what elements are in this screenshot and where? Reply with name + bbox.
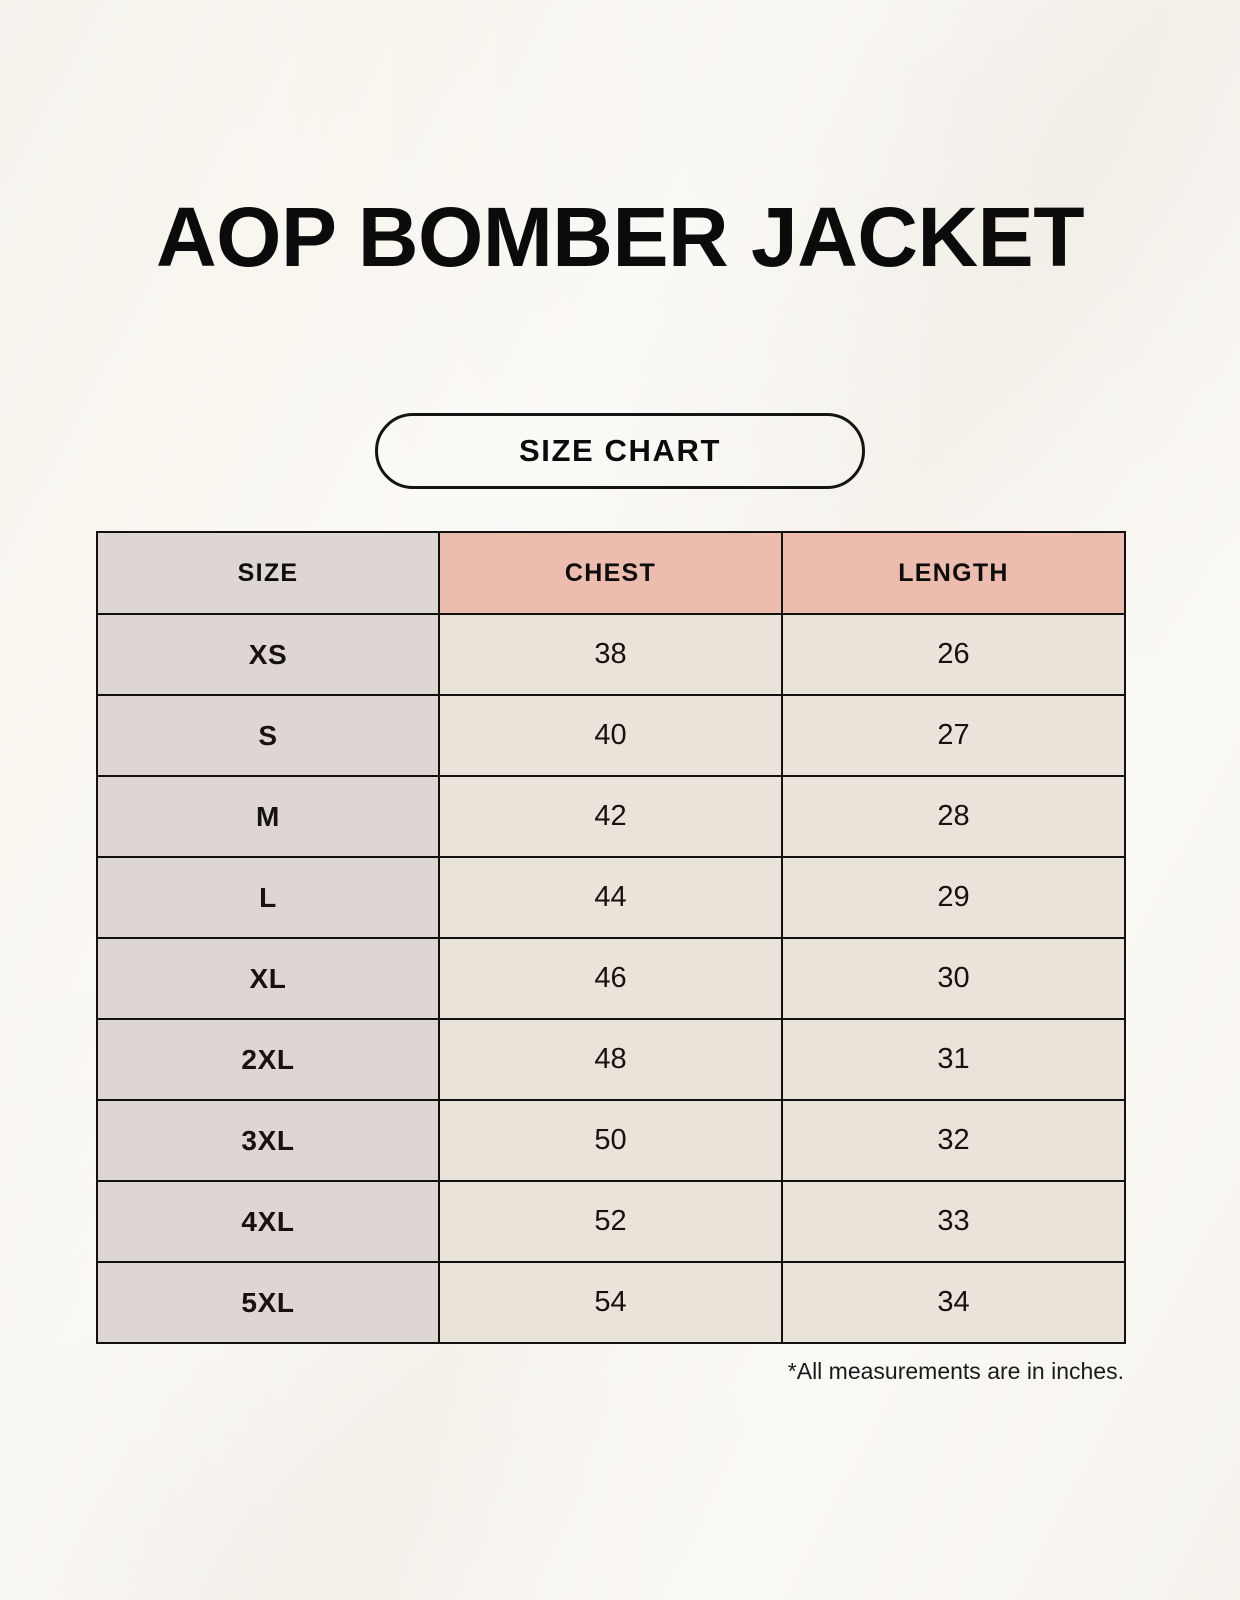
- cell-size: 2XL: [97, 1019, 439, 1100]
- cell-chest: 46: [439, 938, 782, 1019]
- cell-size: L: [97, 857, 439, 938]
- cell-chest: 52: [439, 1181, 782, 1262]
- cell-chest: 38: [439, 614, 782, 695]
- cell-length: 26: [782, 614, 1125, 695]
- cell-length: 28: [782, 776, 1125, 857]
- table-row: 3XL 50 32: [97, 1100, 1125, 1181]
- measurement-footnote: *All measurements are in inches.: [96, 1342, 1124, 1385]
- cell-chest: 40: [439, 695, 782, 776]
- size-table: SIZE CHEST LENGTH XS 38 26 S 40 27 M: [96, 531, 1126, 1344]
- table-row: L 44 29: [97, 857, 1125, 938]
- cell-length: 29: [782, 857, 1125, 938]
- cell-length: 31: [782, 1019, 1125, 1100]
- badge-container: SIZE CHART: [0, 413, 1240, 489]
- table-row: XS 38 26: [97, 614, 1125, 695]
- size-chart-page: AOP BOMBER JACKET SIZE CHART SIZE CHEST …: [0, 0, 1240, 1600]
- table-body: XS 38 26 S 40 27 M 42 28 L 44 29: [97, 614, 1125, 1343]
- cell-size: 5XL: [97, 1262, 439, 1343]
- cell-chest: 54: [439, 1262, 782, 1343]
- cell-length: 34: [782, 1262, 1125, 1343]
- cell-size: 3XL: [97, 1100, 439, 1181]
- title-block: AOP BOMBER JACKET: [0, 196, 1240, 278]
- cell-length: 27: [782, 695, 1125, 776]
- cell-size: XS: [97, 614, 439, 695]
- cell-length: 30: [782, 938, 1125, 1019]
- cell-chest: 48: [439, 1019, 782, 1100]
- size-table-container: SIZE CHEST LENGTH XS 38 26 S 40 27 M: [96, 531, 1124, 1344]
- size-chart-badge: SIZE CHART: [375, 413, 865, 489]
- cell-chest: 44: [439, 857, 782, 938]
- page-title: AOP BOMBER JACKET: [0, 196, 1240, 278]
- table-row: 2XL 48 31: [97, 1019, 1125, 1100]
- cell-size: XL: [97, 938, 439, 1019]
- column-header-length: LENGTH: [782, 532, 1125, 614]
- table-row: 5XL 54 34: [97, 1262, 1125, 1343]
- cell-size: 4XL: [97, 1181, 439, 1262]
- table-header: SIZE CHEST LENGTH: [97, 532, 1125, 614]
- table-row: S 40 27: [97, 695, 1125, 776]
- cell-chest: 50: [439, 1100, 782, 1181]
- table-row: XL 46 30: [97, 938, 1125, 1019]
- cell-length: 32: [782, 1100, 1125, 1181]
- cell-length: 33: [782, 1181, 1125, 1262]
- cell-chest: 42: [439, 776, 782, 857]
- table-row: 4XL 52 33: [97, 1181, 1125, 1262]
- column-header-size: SIZE: [97, 532, 439, 614]
- column-header-chest: CHEST: [439, 532, 782, 614]
- cell-size: S: [97, 695, 439, 776]
- cell-size: M: [97, 776, 439, 857]
- table-row: M 42 28: [97, 776, 1125, 857]
- table-header-row: SIZE CHEST LENGTH: [97, 532, 1125, 614]
